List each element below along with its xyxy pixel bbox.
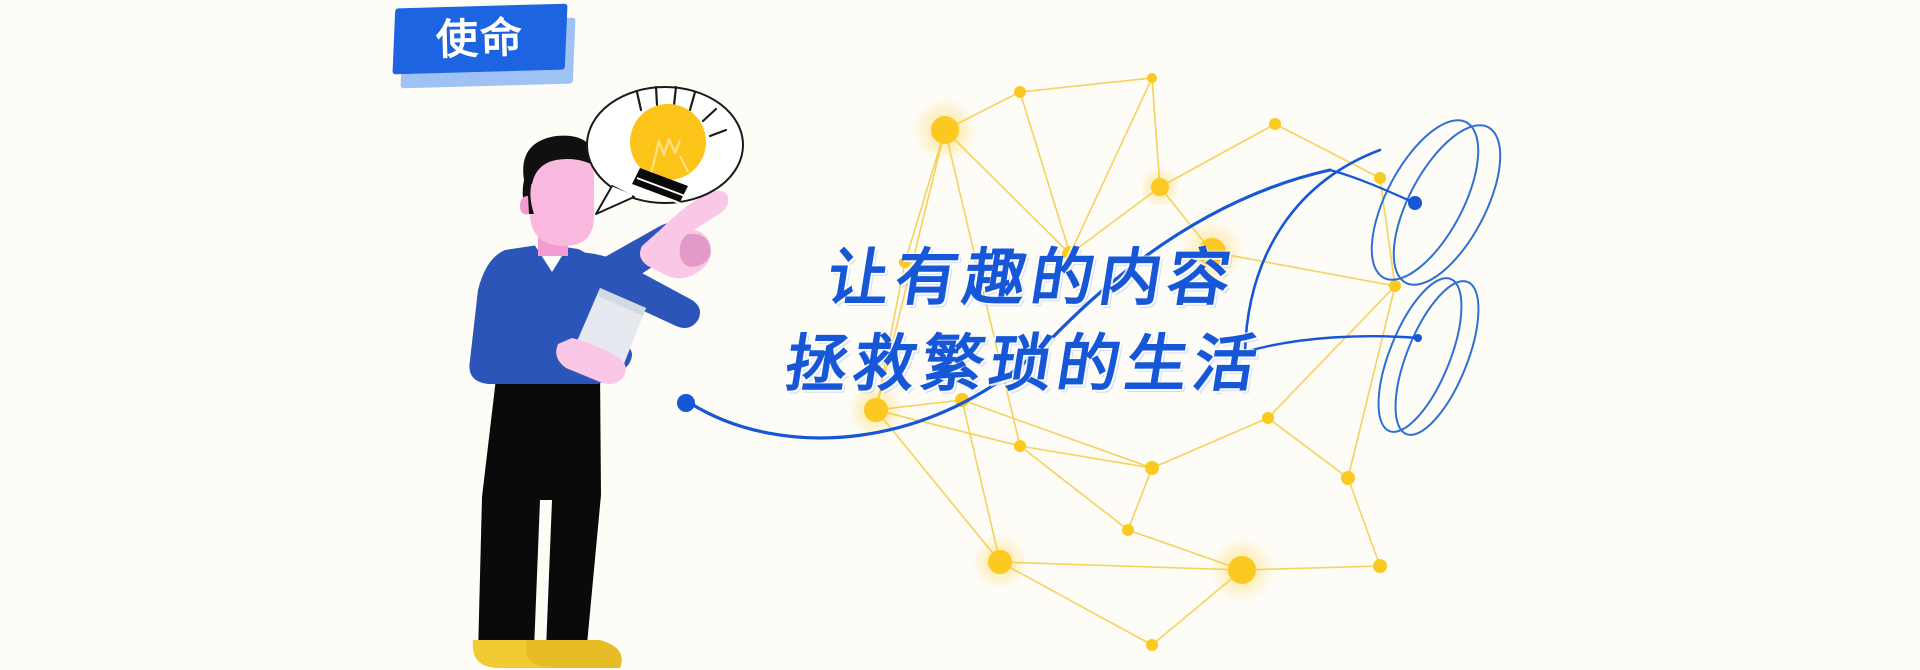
headline-line-2: 拯救繁琐的生活: [780, 326, 1268, 402]
headline: 让有趣的内容 拯救繁琐的生活: [828, 240, 1262, 402]
badge-plate: 使命: [392, 4, 567, 75]
badge-label: 使命: [435, 17, 524, 61]
headline-line-1: 让有趣的内容: [822, 240, 1268, 316]
mission-badge[interactable]: 使命: [394, 6, 574, 90]
mission-banner: 让有趣的内容 拯救繁琐的生活 使命: [0, 0, 1920, 670]
